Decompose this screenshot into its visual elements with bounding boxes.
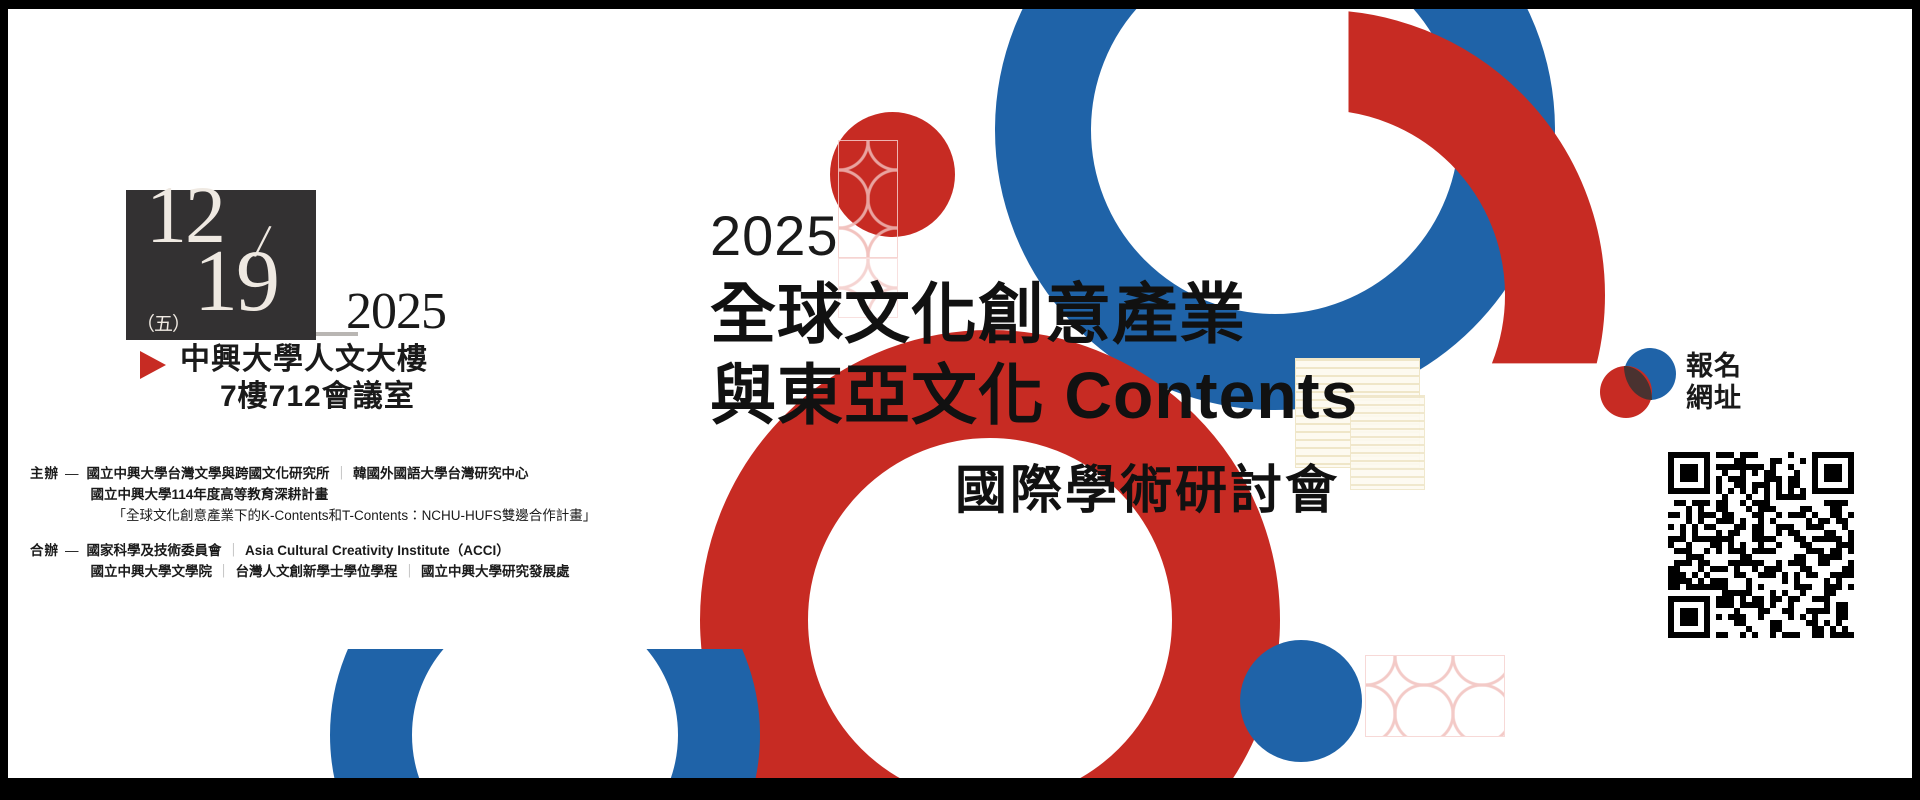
credit-line: 國立中興大學文學院｜台灣人文創新學士學位學程｜國立中興大學研究發展處 (87, 562, 570, 583)
letterbox-left (0, 0, 8, 800)
credit-line: 國立中興大學114年度高等教育深耕計畫 (87, 485, 597, 506)
credit-line: 國家科學及技術委員會｜Asia Cultural Creativity Inst… (87, 541, 570, 562)
credit-text: 國家科學及技術委員會 (87, 543, 222, 558)
title-subtitle: 國際學術研討會 (955, 448, 1340, 523)
blue-circle-decor (1240, 640, 1362, 762)
credit-separator: ｜ (330, 466, 354, 481)
credit-text: 國立中興大學文學院 (91, 564, 213, 579)
venue-block: 中興大學人文大樓 7樓712會議室 (140, 342, 428, 415)
qr-code-icon[interactable] (1668, 452, 1854, 638)
credit-group-organizer: 主辦 — 國立中興大學台灣文學與跨國文化研究所｜韓國外國語大學台灣研究中心 國立… (30, 464, 596, 527)
cream-stripes-decor-b (1350, 395, 1425, 490)
credit-separator: ｜ (212, 564, 236, 579)
credit-text-2: Asia Cultural Creativity Institute（ACCI） (245, 543, 510, 558)
venue-line-1: 中興大學人文大樓 (180, 342, 428, 379)
credit-separator-2: ｜ (398, 564, 422, 579)
two-overlapping-circles-icon (1600, 348, 1676, 416)
credit-text-2: 韓國外國語大學台灣研究中心 (353, 466, 529, 481)
triangle-right-icon (140, 351, 166, 379)
title-line-1: 全球文化創意產業 (710, 274, 1358, 355)
date-day: 19 (194, 238, 278, 326)
letterbox-top (0, 0, 1920, 9)
main-title-block: 2025 全球文化創意產業 與東亞文化 Contents (710, 208, 1358, 435)
credit-label-coorganizer: 合辦 (30, 541, 59, 562)
letterbox-right (1912, 0, 1920, 800)
credit-separator: ｜ (222, 543, 246, 558)
registration-block: 報名 網址 (1600, 348, 1742, 416)
credit-dash-coorganizer: — (65, 541, 79, 562)
credit-line: 「全球文化創意產業下的K-Contents和T-Contents：NCHU-HU… (87, 506, 597, 527)
letterbox-bottom (0, 778, 1920, 800)
title-line-2: 與東亞文化 Contents (710, 355, 1358, 436)
date-weekday: （五） (136, 309, 190, 336)
credit-group-coorganizer: 合辦 — 國家科學及技術委員會｜Asia Cultural Creativity… (30, 541, 596, 583)
date-year: 2025 (346, 282, 446, 341)
credit-line: 國立中興大學台灣文學與跨國文化研究所｜韓國外國語大學台灣研究中心 (87, 464, 597, 485)
conference-poster: 12 / 19 （五） 2025 中興大學人文大樓 7樓712會議室 主辦 — … (0, 0, 1920, 800)
pink-lattice-decor-c (1365, 655, 1505, 737)
credit-text-2: 台灣人文創新學士學位學程 (236, 564, 398, 579)
credit-text-3: 國立中興大學研究發展處 (421, 564, 570, 579)
registration-label-line-2: 網址 (1686, 382, 1742, 414)
credit-label-organizer: 主辦 (30, 464, 59, 485)
title-year: 2025 (710, 208, 1358, 264)
credit-dash-organizer: — (65, 464, 79, 485)
credit-text: 國立中興大學台灣文學與跨國文化研究所 (87, 466, 330, 481)
event-date-block: 12 / 19 （五） (126, 190, 316, 340)
venue-line-2: 7樓712會議室 (180, 379, 428, 416)
credits-block: 主辦 — 國立中興大學台灣文學與跨國文化研究所｜韓國外國語大學台灣研究中心 國立… (30, 464, 596, 597)
registration-label-line-1: 報名 (1686, 350, 1742, 382)
